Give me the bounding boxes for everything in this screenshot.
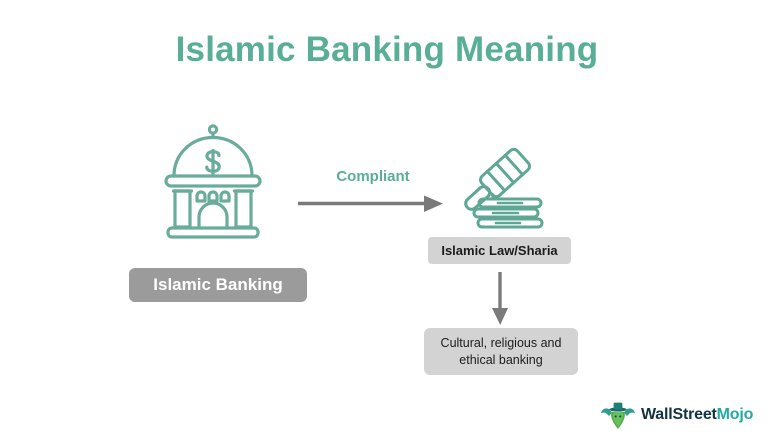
node-islamic-banking-label: Islamic Banking xyxy=(153,275,282,295)
slide-canvas: Islamic Banking Meaning xyxy=(0,0,774,442)
bank-building-icon xyxy=(158,122,268,240)
node-islamic-law-sharia-label: Islamic Law/Sharia xyxy=(441,243,557,258)
arrow-down-icon xyxy=(488,272,512,326)
node-outcome-line-2: ethical banking xyxy=(441,352,562,369)
logo-text-wallstreet: WallStreet xyxy=(641,406,717,423)
wallstreetmojo-logo[interactable]: WallStreetMojo xyxy=(600,398,760,432)
node-outcome[interactable]: Cultural, religious and ethical banking xyxy=(424,328,578,375)
logo-text-mojo: Mojo xyxy=(717,406,754,423)
wallstreetmojo-wordmark: WallStreetMojo xyxy=(641,406,753,424)
arrow-right-icon xyxy=(298,192,446,216)
gavel-on-books-icon xyxy=(448,143,548,235)
wallstreetmojo-bull-icon xyxy=(600,400,636,430)
node-islamic-banking[interactable]: Islamic Banking xyxy=(129,268,307,302)
node-outcome-text: Cultural, religious and ethical banking xyxy=(441,335,562,369)
compliant-relation-label: Compliant xyxy=(308,168,438,185)
node-outcome-line-1: Cultural, religious and xyxy=(441,335,562,352)
node-islamic-law-sharia[interactable]: Islamic Law/Sharia xyxy=(428,237,571,264)
page-title: Islamic Banking Meaning xyxy=(0,28,774,72)
